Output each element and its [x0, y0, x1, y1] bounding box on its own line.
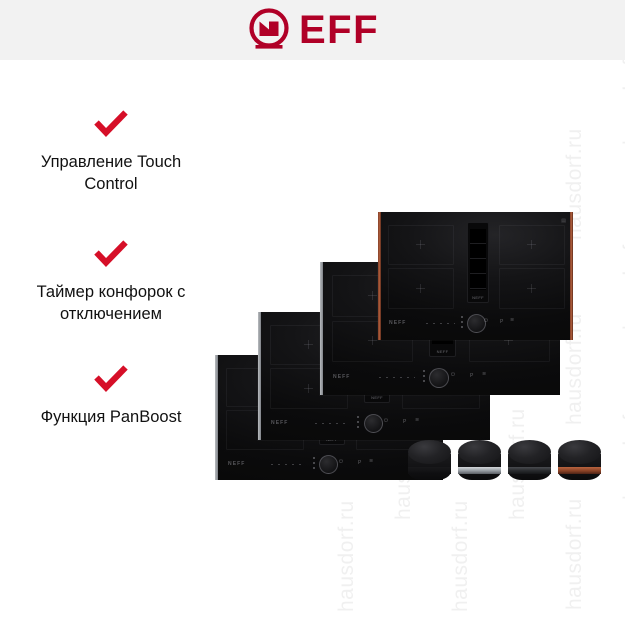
dial-tick	[423, 380, 425, 382]
cooking-zone-center-mark	[368, 340, 377, 341]
cooktop-left-trim	[258, 312, 261, 440]
feature-list: Управление Touch Control Таймер конфорок…	[0, 110, 222, 452]
watermark-text: hausdorf.ru	[620, 388, 625, 500]
touch-control-slider[interactable]	[271, 464, 305, 465]
cooking-zone-center-mark	[416, 244, 425, 245]
cooktop-brand-label: NEFF	[228, 461, 245, 467]
cooktop-left-trim	[320, 262, 323, 395]
fan-button[interactable]: ≋	[482, 372, 486, 377]
cooktop-right-trim	[570, 212, 573, 340]
power-button[interactable]: ⏻	[339, 460, 343, 465]
feature-item-panboost: Функция PanBoost	[0, 365, 222, 428]
knob-accent-ring	[408, 467, 451, 474]
control-dial[interactable]	[429, 368, 449, 388]
power-button[interactable]: ⏻	[384, 419, 388, 424]
cooking-zone-center-mark	[304, 388, 313, 389]
cooktop-brand-label: NEFF	[271, 420, 288, 426]
feature-label-panboost: Функция PanBoost	[0, 406, 222, 428]
dial-tick	[423, 370, 425, 372]
feature-item-touch-control: Управление Touch Control	[0, 110, 222, 196]
watermark-text: hausdorf.ru	[620, 218, 625, 330]
knob-accent-ring	[508, 467, 551, 474]
twist-pad-knob-copper[interactable]	[558, 440, 601, 480]
power-button[interactable]: ⏻	[451, 373, 455, 378]
page-header: EFF	[0, 0, 625, 60]
neff-logo: EFF	[246, 7, 379, 53]
dial-tick	[313, 457, 315, 459]
control-dial[interactable]	[319, 455, 338, 474]
cooking-zone-center-mark	[527, 288, 536, 289]
touch-control-slider[interactable]	[379, 377, 415, 378]
dial-tick	[313, 467, 315, 469]
check-icon	[94, 240, 128, 267]
dial-tick	[313, 462, 315, 464]
vent-brand-label: NEFF	[468, 295, 488, 300]
touch-control-slider[interactable]	[426, 323, 455, 324]
boost-button[interactable]: P	[358, 461, 361, 466]
cooking-zone-center-mark	[527, 244, 536, 245]
boost-button[interactable]: P	[500, 320, 503, 325]
control-dial[interactable]	[364, 414, 383, 433]
vent-slats	[470, 229, 486, 290]
vent-brand-label: NEFF	[365, 395, 389, 400]
dial-tick	[357, 421, 359, 423]
neff-wordmark: EFF	[299, 10, 379, 50]
cooktop-brand-label: NEFF	[333, 374, 350, 380]
boost-button[interactable]: P	[403, 420, 406, 425]
touch-control-slider[interactable]	[315, 423, 350, 424]
twist-pad-knob-dark[interactable]	[508, 440, 551, 480]
fan-button[interactable]: ≋	[369, 459, 373, 464]
dial-tick	[461, 321, 463, 323]
knob-top-face	[558, 440, 601, 464]
watermark-text: hausdorf.ru	[449, 500, 473, 612]
knob-accent-ring	[458, 467, 501, 474]
cooktop-left-trim	[378, 212, 381, 340]
dial-tick	[461, 326, 463, 328]
knob-top-face	[408, 440, 451, 464]
twist-pad-knob-black[interactable]	[408, 440, 451, 480]
dial-tick	[357, 426, 359, 428]
cooking-zone-center-mark	[304, 344, 313, 345]
cooking-zone-center-mark	[504, 340, 513, 341]
power-button[interactable]: ⏻	[484, 319, 488, 324]
boost-button[interactable]: P	[470, 374, 473, 379]
watermark-text: hausdorf.ru	[335, 500, 359, 612]
dial-tick	[461, 316, 463, 318]
twist-pad-knob-silver[interactable]	[458, 440, 501, 480]
induction-cooktop-back-flexinduction-venting[interactable]: NEFFNEFF⏻P≋▤	[378, 212, 573, 340]
knob-accent-ring	[558, 467, 601, 474]
neff-omega-logo-icon	[246, 7, 292, 53]
feature-label-touch-control: Управление Touch Control	[0, 151, 222, 196]
feature-item-burner-timer: Таймер конфорок с отключением	[0, 240, 222, 326]
vent-brand-label: NEFF	[430, 349, 455, 354]
dial-tick	[357, 416, 359, 418]
fan-button[interactable]: ≋	[415, 418, 419, 423]
fan-button[interactable]: ≋	[510, 318, 514, 323]
twist-pad-knob-row	[408, 440, 601, 480]
watermark-text: hausdorf.ru	[563, 498, 587, 610]
downdraft-vent-grille[interactable]: NEFF	[467, 222, 489, 303]
check-icon	[94, 110, 128, 137]
cooktop-corner-mark: ▤	[561, 218, 566, 224]
knob-top-face	[508, 440, 551, 464]
cooking-zone-center-mark	[416, 288, 425, 289]
dial-tick	[423, 375, 425, 377]
feature-label-burner-timer: Таймер конфорок с отключением	[0, 281, 222, 326]
cooking-zone-center-mark	[368, 295, 377, 296]
check-icon	[94, 365, 128, 392]
knob-top-face	[458, 440, 501, 464]
cooktop-brand-label: NEFF	[389, 320, 406, 326]
